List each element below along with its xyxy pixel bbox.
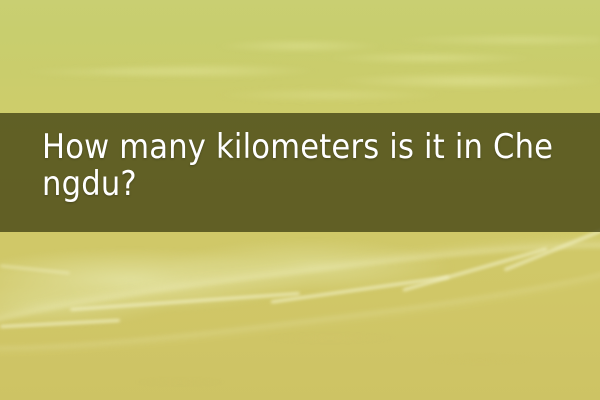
mid-surf-band <box>0 55 600 115</box>
sand-texture <box>0 320 600 400</box>
caption-banner: How many kilometers is it in Chengdu? <box>0 113 600 232</box>
caption-question-text: How many kilometers is it in Chengdu? <box>42 129 572 203</box>
image-canvas: How many kilometers is it in Chengdu? <box>0 0 600 400</box>
